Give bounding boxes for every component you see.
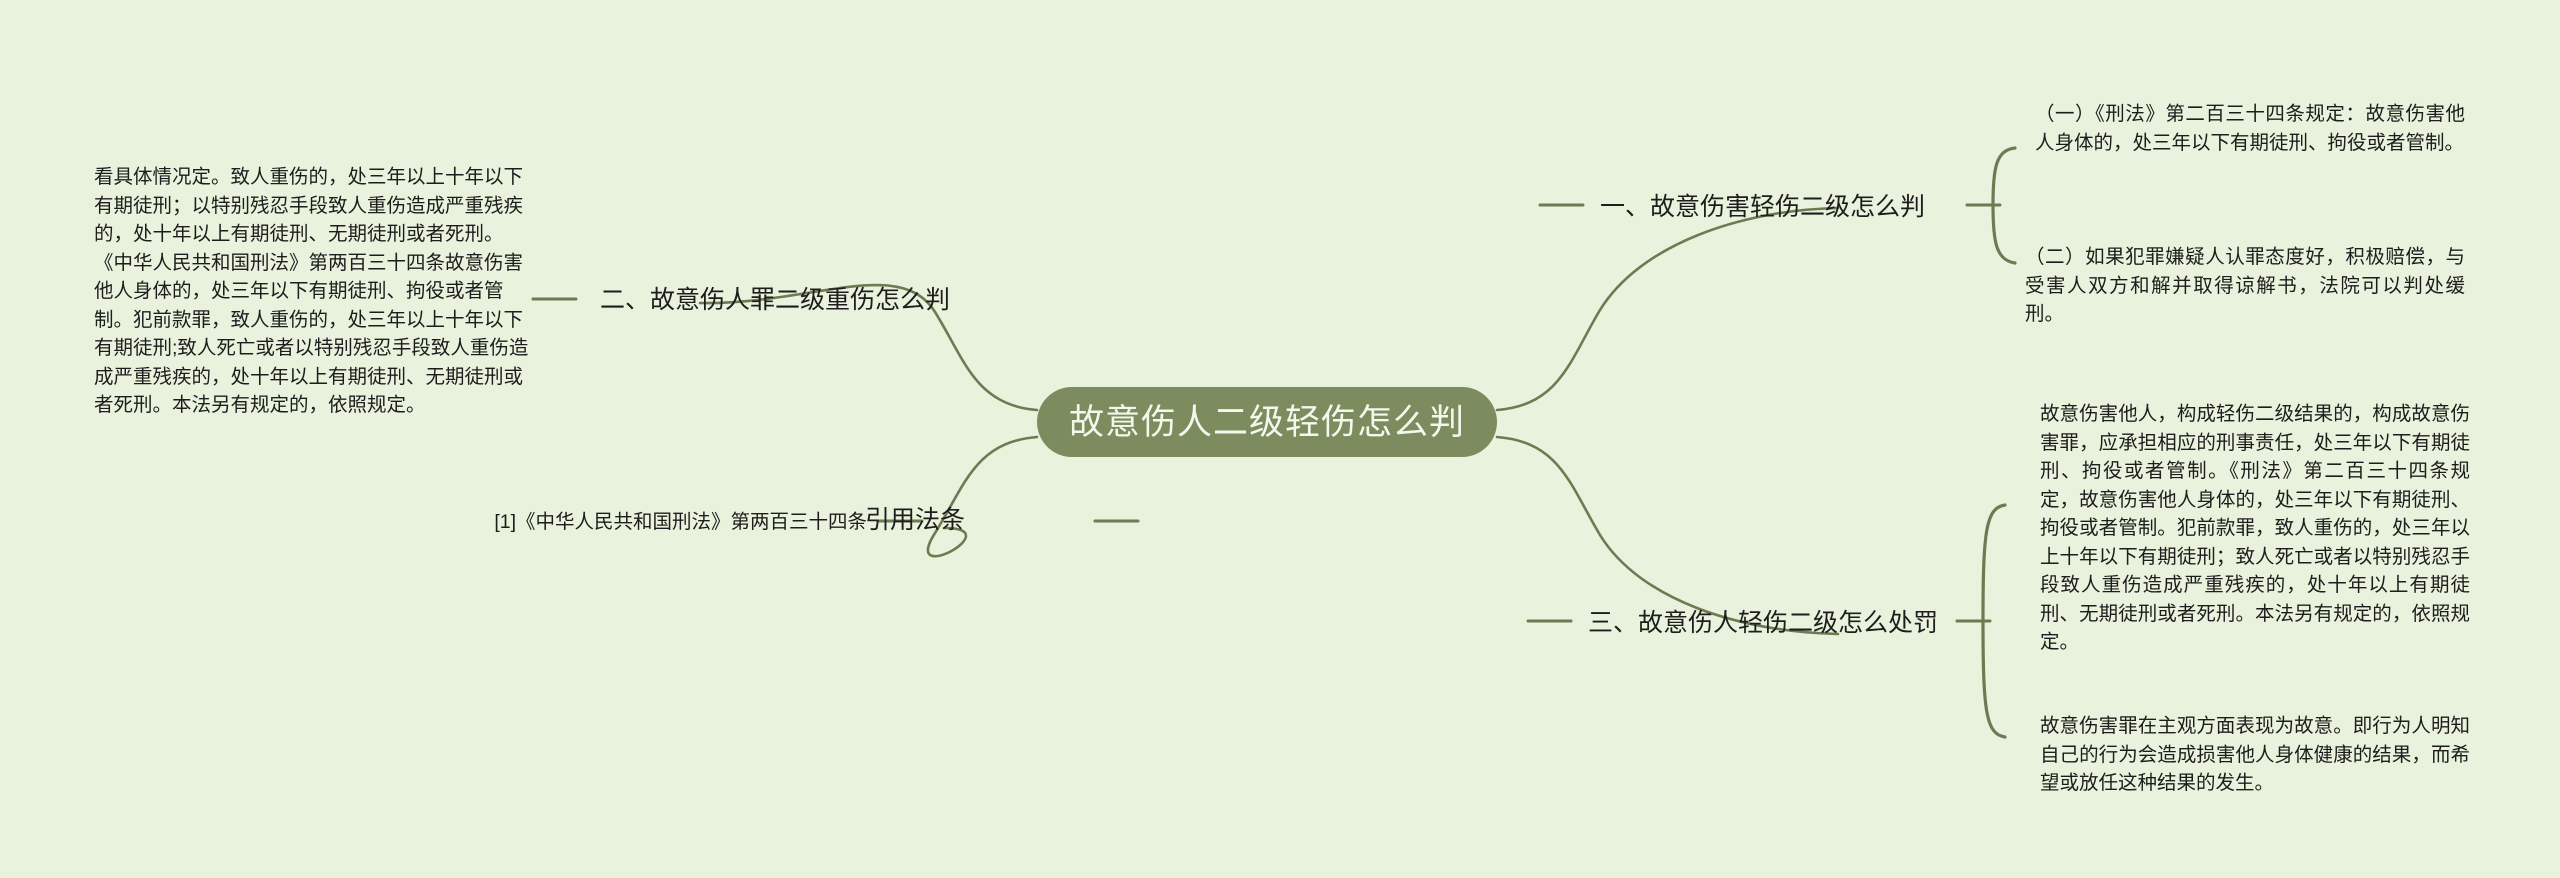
branch-title-3[interactable]: 三、故意伤人轻伤二级怎么处罚: [1588, 608, 1938, 638]
leaf-branch-4-child-1[interactable]: [1]《中华人民共和国刑法》第两百三十四条: [375, 508, 867, 537]
branch-title-1[interactable]: 一、故意伤害轻伤二级怎么判: [1600, 192, 1925, 222]
mindmap-canvas: 故意伤人二级轻伤怎么判 一、故意伤害轻伤二级怎么判 三、故意伤人轻伤二级怎么处罚…: [0, 0, 2560, 878]
root-node-label: 故意伤人二级轻伤怎么判: [1069, 405, 1465, 440]
leaf-branch-2-child-1[interactable]: 看具体情况定。致人重伤的，处三年以上十年以下有期徒刑；以特别残忍手段致人重伤造成…: [94, 163, 531, 420]
branch-title-4[interactable]: 引用法条: [865, 505, 965, 535]
leaf-branch-3-child-2[interactable]: 故意伤害罪在主观方面表现为故意。即行为人明知自己的行为会造成损害他人身体健康的结…: [2040, 712, 2470, 798]
leaf-branch-1-child-2[interactable]: （二）如果犯罪嫌疑人认罪态度好，积极赔偿，与受害人双方和解并取得谅解书，法院可以…: [2025, 243, 2465, 329]
root-node[interactable]: 故意伤人二级轻伤怎么判: [1037, 387, 1497, 457]
leaf-branch-3-child-1[interactable]: 故意伤害他人，构成轻伤二级结果的，构成故意伤害罪，应承担相应的刑事责任，处三年以…: [2040, 400, 2470, 657]
branch-title-2[interactable]: 二、故意伤人罪二级重伤怎么判: [600, 285, 950, 315]
leaf-branch-1-child-1[interactable]: （一）《刑法》第二百三十四条规定：故意伤害他人身体的，处三年以下有期徒刑、拘役或…: [2035, 100, 2465, 157]
